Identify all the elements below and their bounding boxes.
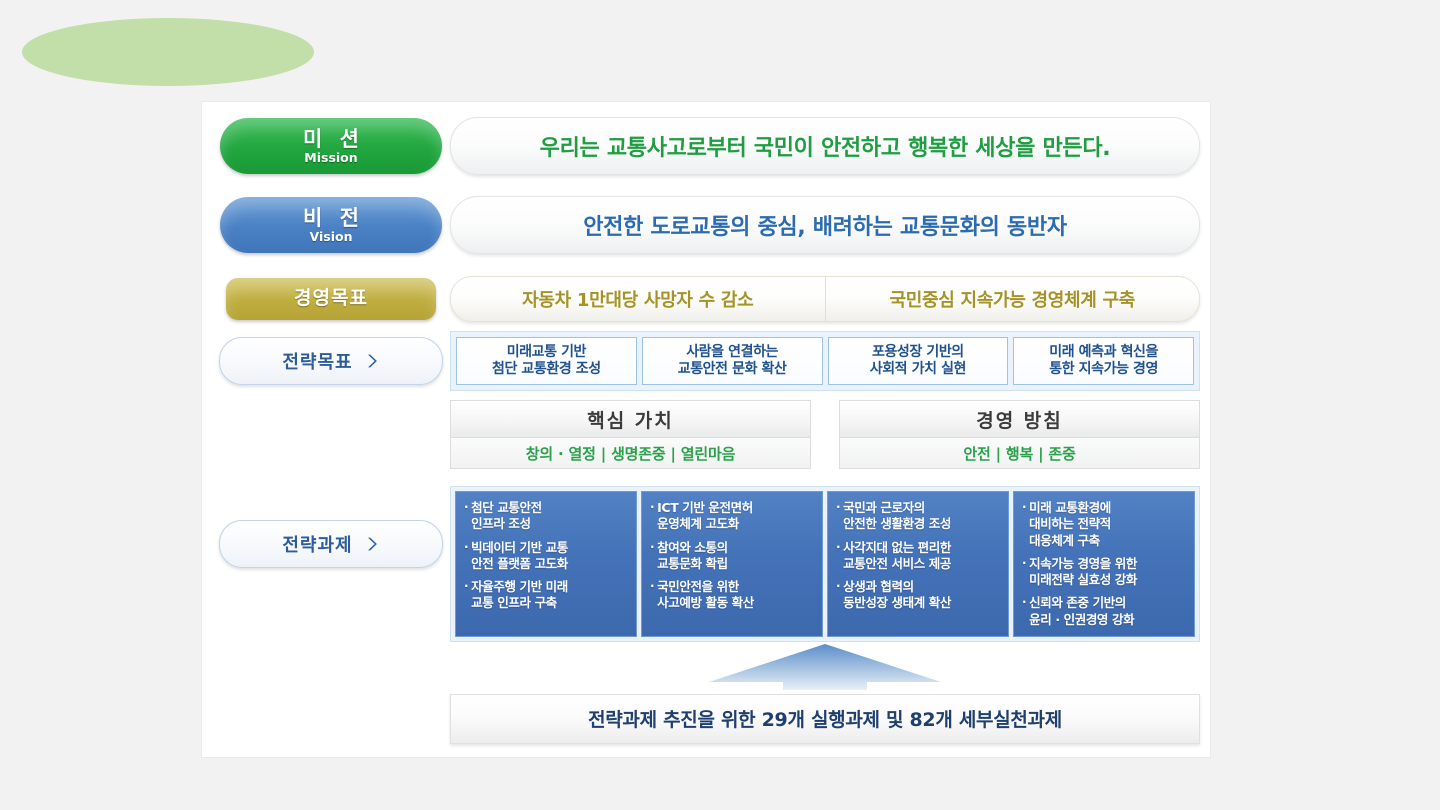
vision-pill: 비 전 Vision: [220, 197, 442, 253]
footer-row: 전략과제 추진을 위한 29개 실행과제 및 82개 세부실천과제: [212, 694, 1200, 744]
arrow-up-icon: [709, 644, 941, 690]
management-goal-pill: 경영목표: [226, 278, 436, 320]
task-line-1: ICT 기반 운전면허: [657, 500, 753, 515]
values-policy-wrap: 핵심 가치 창의 · 열정 | 생명존중 | 열린마음 경영 방침 안전 | 행…: [450, 400, 1200, 469]
strategic-task-column-1: · 첨단 교통안전인프라 조성 · 빅데이터 기반 교통안전 플랫폼 고도화 ·…: [455, 491, 637, 637]
task-item[interactable]: · 상생과 협력의동반성장 생태계 확산: [836, 579, 1001, 612]
task-item-text: 지속가능 경영을 위한미래전략 실효성 강화: [1029, 556, 1137, 589]
vision-label-en: Vision: [310, 230, 353, 243]
mission-statement-capsule: 우리는 교통사고로부터 국민이 안전하고 행복한 세상을 만든다.: [450, 117, 1200, 175]
strategic-task-label-col: 전략과제: [212, 486, 450, 568]
strategic-goal-band: 미래교통 기반 첨단 교통환경 조성 사람을 연결하는 교통안전 문화 확산 포…: [450, 331, 1200, 391]
task-line-2: 교통 인프라 구축: [471, 595, 557, 610]
task-item-text: 빅데이터 기반 교통안전 플랫폼 고도화: [471, 540, 568, 573]
chevron-right-icon: [364, 353, 380, 369]
strategic-goal-content-col: 미래교통 기반 첨단 교통환경 조성 사람을 연결하는 교통안전 문화 확산 포…: [450, 331, 1200, 391]
task-item-text: 참여와 소통의교통문화 확립: [657, 540, 728, 573]
strategic-task-column-3: · 국민과 근로자의안전한 생활환경 조성 · 사각지대 없는 편리한교통안전 …: [827, 491, 1009, 637]
task-item[interactable]: · 신뢰와 존중 기반의윤리 · 인권경영 강화: [1022, 595, 1187, 628]
bullet-icon: ·: [464, 579, 468, 612]
management-goal-label: 경영목표: [294, 289, 368, 309]
strategic-task-column-4: · 미래 교통환경에대비하는 전략적대응체계 구축 · 지속가능 경영을 위한미…: [1013, 491, 1195, 637]
strategic-goal-box-2-line2: 교통안전 문화 확산: [678, 361, 787, 379]
bullet-icon: ·: [836, 579, 840, 612]
strategic-task-content-col: · 첨단 교통안전인프라 조성 · 빅데이터 기반 교통안전 플랫폼 고도화 ·…: [450, 486, 1200, 642]
strategic-goal-box-2-line1: 사람을 연결하는: [686, 344, 778, 362]
strategic-task-row: 전략과제 · 첨단 교통안전인프라 조성: [212, 480, 1200, 642]
bullet-icon: ·: [650, 540, 654, 573]
task-line-2: 동반성장 생태계 확산: [843, 595, 951, 610]
management-policy-items: 안전 | 행복 | 존중: [839, 437, 1200, 469]
task-line-1: 자율주행 기반 미래: [471, 579, 568, 594]
task-item-text: ICT 기반 운전면허운영체계 고도화: [657, 500, 753, 533]
management-goal-bar: 자동차 1만대당 사망자 수 감소 국민중심 지속가능 경영체계 구축: [450, 276, 1200, 322]
task-item[interactable]: · ICT 기반 운전면허운영체계 고도화: [650, 500, 815, 533]
management-goal-label-col: 경영목표: [212, 278, 450, 320]
strategic-task-band: · 첨단 교통안전인프라 조성 · 빅데이터 기반 교통안전 플랫폼 고도화 ·…: [450, 486, 1200, 642]
arrow-row: [212, 642, 1200, 690]
strategic-goal-box-3-line2: 사회적 가치 실현: [870, 361, 966, 379]
task-line-1: 신뢰와 존중 기반의: [1029, 595, 1126, 610]
slide-canvas: 미 션 Mission 우리는 교통사고로부터 국민이 안전하고 행복한 세상을…: [0, 0, 1440, 810]
task-item[interactable]: · 참여와 소통의교통문화 확립: [650, 540, 815, 573]
task-item-text: 국민안전을 위한사고예방 활동 확산: [657, 579, 754, 612]
management-goal-row: 경영목표 자동차 1만대당 사망자 수 감소 국민중심 지속가능 경영체계 구축: [212, 268, 1200, 330]
task-item-text: 미래 교통환경에대비하는 전략적대응체계 구축: [1029, 500, 1111, 549]
strategic-goal-box-1-line2: 첨단 교통환경 조성: [492, 361, 601, 379]
strategic-goal-label: 전략목표: [282, 348, 352, 374]
strategic-goal-row: 전략목표 미래교통 기반 첨단 교통환경 조성: [212, 330, 1200, 392]
task-line-1: 국민안전을 위한: [657, 579, 739, 594]
footer-summary-text: 전략과제 추진을 위한 29개 실행과제 및 82개 세부실천과제: [588, 705, 1062, 732]
strategic-goal-box-4[interactable]: 미래 예측과 혁신을 통한 지속가능 경영: [1013, 337, 1194, 385]
vision-content-col: 안전한 도로교통의 중심, 배려하는 교통문화의 동반자: [450, 196, 1200, 254]
management-goal-content-col: 자동차 1만대당 사망자 수 감소 국민중심 지속가능 경영체계 구축: [450, 276, 1200, 322]
management-policy-title: 경영 방침: [839, 400, 1200, 437]
strategic-goal-box-3[interactable]: 포용성장 기반의 사회적 가치 실현: [828, 337, 1009, 385]
task-item-text: 국민과 근로자의안전한 생활환경 조성: [843, 500, 951, 533]
strategic-goal-box-2[interactable]: 사람을 연결하는 교통안전 문화 확산: [642, 337, 823, 385]
bullet-icon: ·: [1022, 595, 1026, 628]
task-line-1: 참여와 소통의: [657, 540, 728, 555]
bullet-icon: ·: [650, 579, 654, 612]
mission-label-en: Mission: [304, 151, 357, 164]
task-line-1: 국민과 근로자의: [843, 500, 925, 515]
values-policy-row: 핵심 가치 창의 · 열정 | 생명존중 | 열린마음 경영 방침 안전 | 행…: [212, 392, 1200, 480]
strategic-task-column-2: · ICT 기반 운전면허운영체계 고도화 · 참여와 소통의교통문화 확립 ·…: [641, 491, 823, 637]
bullet-icon: ·: [1022, 556, 1026, 589]
strategic-goal-label-col: 전략목표: [212, 337, 450, 385]
core-values-title: 핵심 가치: [450, 400, 811, 437]
task-line-2: 윤리 · 인권경영 강화: [1029, 612, 1134, 627]
strategy-map-panel: 미 션 Mission 우리는 교통사고로부터 국민이 안전하고 행복한 세상을…: [202, 102, 1210, 757]
task-line-1: 상생과 협력의: [843, 579, 914, 594]
task-item-text: 자율주행 기반 미래교통 인프라 구축: [471, 579, 568, 612]
vision-statement-capsule: 안전한 도로교통의 중심, 배려하는 교통문화의 동반자: [450, 196, 1200, 254]
task-line-2: 교통안전 서비스 제공: [843, 556, 951, 571]
vision-row: 비 전 Vision 안전한 도로교통의 중심, 배려하는 교통문화의 동반자: [212, 182, 1200, 268]
strategic-task-pill[interactable]: 전략과제: [219, 520, 443, 568]
core-values-card: 핵심 가치 창의 · 열정 | 생명존중 | 열린마음: [450, 400, 811, 469]
task-line-2: 운영체계 고도화: [657, 516, 739, 531]
mission-statement: 우리는 교통사고로부터 국민이 안전하고 행복한 세상을 만든다.: [540, 130, 1111, 162]
task-line-1: 첨단 교통안전: [471, 500, 542, 515]
task-line-2: 대비하는 전략적: [1029, 516, 1111, 531]
task-item[interactable]: · 사각지대 없는 편리한교통안전 서비스 제공: [836, 540, 1001, 573]
task-line-1: 빅데이터 기반 교통: [471, 540, 568, 555]
task-line-2: 교통문화 확립: [657, 556, 728, 571]
bullet-icon: ·: [464, 500, 468, 533]
task-item[interactable]: · 국민과 근로자의안전한 생활환경 조성: [836, 500, 1001, 533]
chevron-right-icon: [364, 536, 380, 552]
task-line-2: 안전한 생활환경 조성: [843, 516, 951, 531]
mission-content-col: 우리는 교통사고로부터 국민이 안전하고 행복한 세상을 만든다.: [450, 117, 1200, 175]
values-policy-content-col: 핵심 가치 창의 · 열정 | 생명존중 | 열린마음 경영 방침 안전 | 행…: [450, 400, 1200, 469]
bullet-icon: ·: [464, 540, 468, 573]
vision-label-ko: 비 전: [298, 207, 364, 229]
bullet-icon: ·: [836, 500, 840, 533]
task-item-text: 신뢰와 존중 기반의윤리 · 인권경영 강화: [1029, 595, 1134, 628]
task-line-3: 대응체계 구축: [1029, 533, 1100, 548]
bullet-icon: ·: [1022, 500, 1026, 549]
task-line-1: 미래 교통환경에: [1029, 500, 1111, 515]
task-line-2: 미래전략 실효성 강화: [1029, 572, 1137, 587]
strategic-goal-box-4-line1: 미래 예측과 혁신을: [1049, 344, 1158, 362]
strategic-goal-box-1-line1: 미래교통 기반: [507, 344, 586, 362]
task-line-2: 인프라 조성: [471, 516, 530, 531]
task-item-text: 첨단 교통안전인프라 조성: [471, 500, 542, 533]
management-goal-item-1: 자동차 1만대당 사망자 수 감소: [451, 277, 825, 321]
task-line-1: 사각지대 없는 편리한: [843, 540, 951, 555]
mission-label-col: 미 션 Mission: [212, 118, 450, 174]
management-policy-card: 경영 방침 안전 | 행복 | 존중: [839, 400, 1200, 469]
task-item[interactable]: · 미래 교통환경에대비하는 전략적대응체계 구축: [1022, 500, 1187, 549]
task-item[interactable]: · 빅데이터 기반 교통안전 플랫폼 고도화: [464, 540, 629, 573]
task-item[interactable]: · 지속가능 경영을 위한미래전략 실효성 강화: [1022, 556, 1187, 589]
arrow-content-col: [450, 644, 1200, 690]
bullet-icon: ·: [836, 540, 840, 573]
mission-pill: 미 션 Mission: [220, 118, 442, 174]
decorative-green-ellipse: [22, 18, 314, 86]
strategic-goal-box-4-line2: 통한 지속가능 경영: [1049, 361, 1158, 379]
task-line-1: 지속가능 경영을 위한: [1029, 556, 1137, 571]
strategic-goal-box-3-line1: 포용성장 기반의: [872, 344, 964, 362]
vision-statement: 안전한 도로교통의 중심, 배려하는 교통문화의 동반자: [583, 209, 1067, 241]
bullet-icon: ·: [650, 500, 654, 533]
task-line-2: 사고예방 활동 확산: [657, 595, 754, 610]
task-line-2: 안전 플랫폼 고도화: [471, 556, 568, 571]
footer-summary-bar: 전략과제 추진을 위한 29개 실행과제 및 82개 세부실천과제: [450, 694, 1200, 744]
vision-label-col: 비 전 Vision: [212, 197, 450, 253]
strategic-task-label: 전략과제: [282, 531, 352, 557]
core-values-items: 창의 · 열정 | 생명존중 | 열린마음: [450, 437, 811, 469]
management-goal-item-2: 국민중심 지속가능 경영체계 구축: [825, 277, 1200, 321]
strategic-goal-pill[interactable]: 전략목표: [219, 337, 443, 385]
task-item[interactable]: · 첨단 교통안전인프라 조성: [464, 500, 629, 533]
mission-row: 미 션 Mission 우리는 교통사고로부터 국민이 안전하고 행복한 세상을…: [212, 110, 1200, 182]
task-item-text: 상생과 협력의동반성장 생태계 확산: [843, 579, 951, 612]
task-item[interactable]: · 자율주행 기반 미래교통 인프라 구축: [464, 579, 629, 612]
task-item-text: 사각지대 없는 편리한교통안전 서비스 제공: [843, 540, 951, 573]
footer-content-col: 전략과제 추진을 위한 29개 실행과제 및 82개 세부실천과제: [450, 694, 1200, 744]
mission-label-ko: 미 션: [298, 128, 364, 150]
task-item[interactable]: · 국민안전을 위한사고예방 활동 확산: [650, 579, 815, 612]
strategic-goal-box-1[interactable]: 미래교통 기반 첨단 교통환경 조성: [456, 337, 637, 385]
